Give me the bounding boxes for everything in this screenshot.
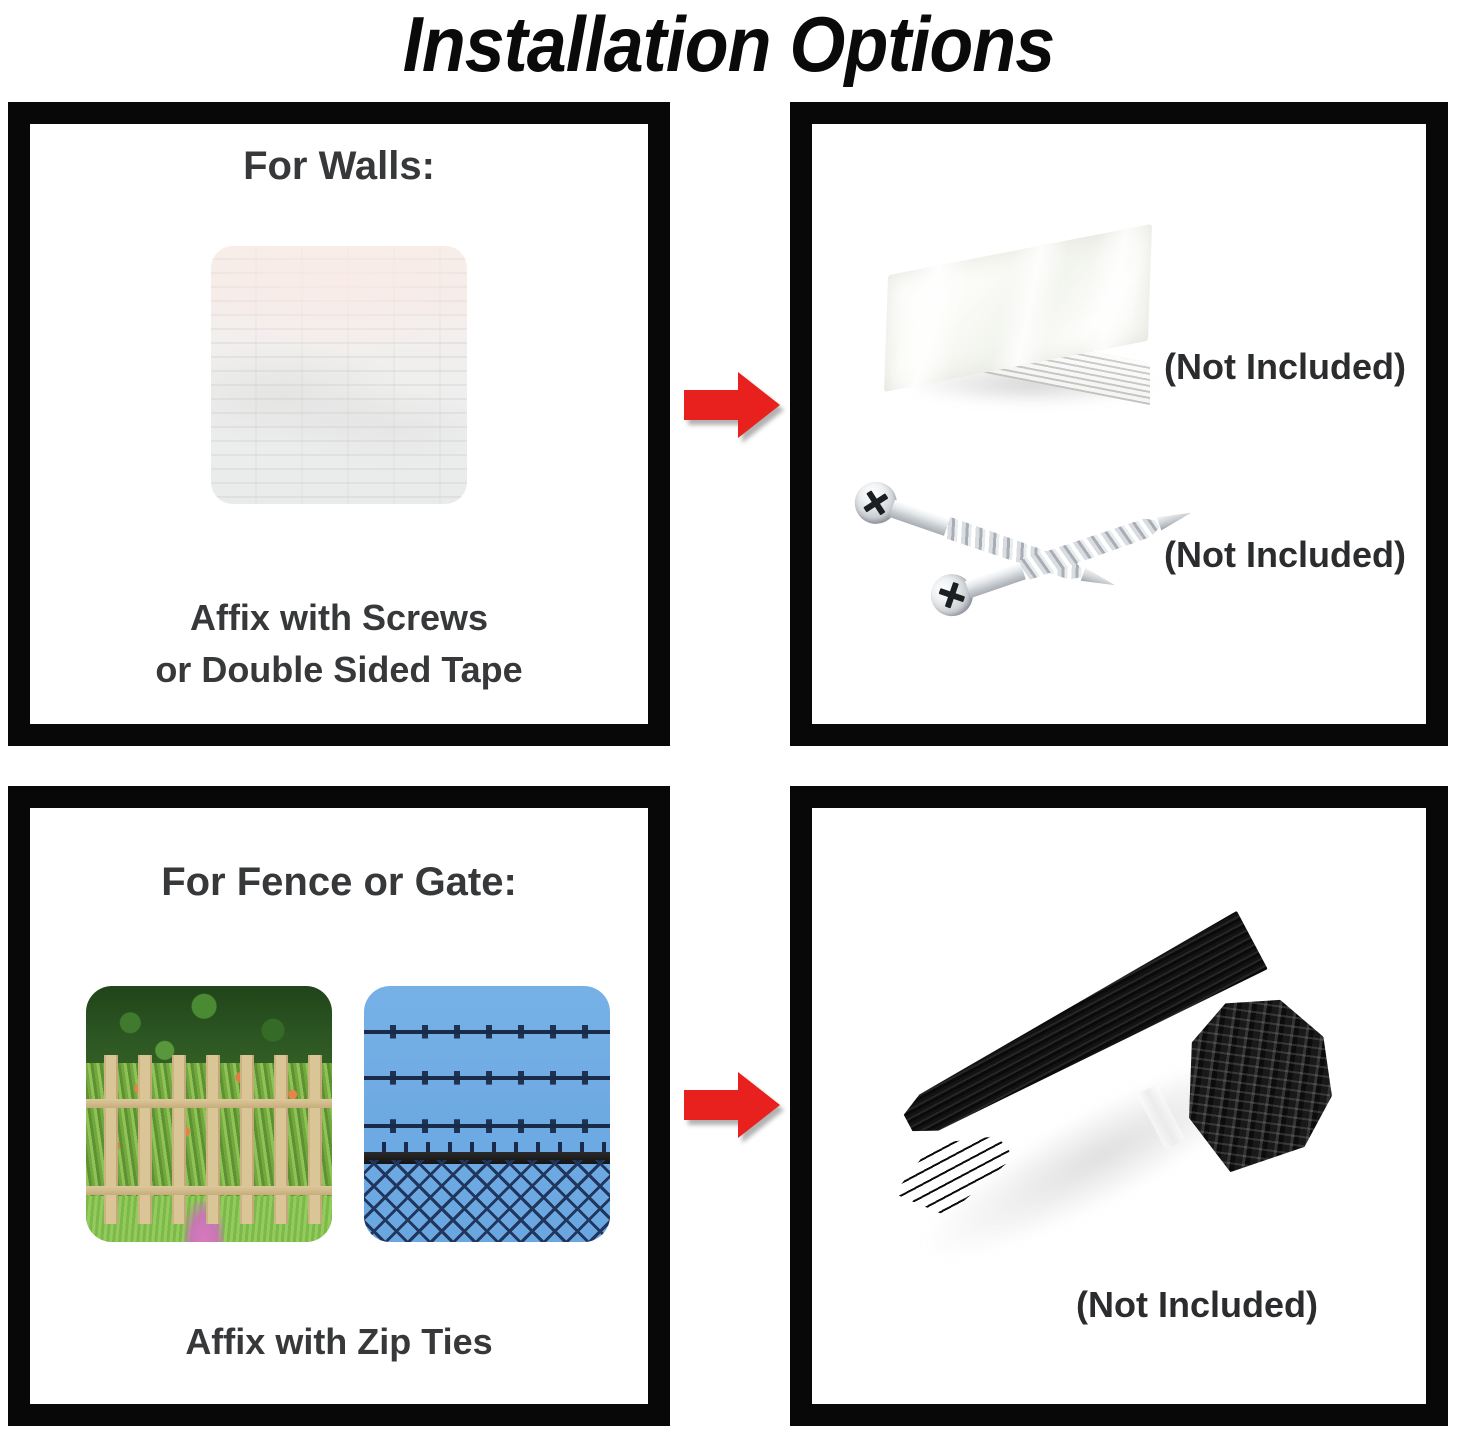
wooden-picket-fence-image <box>86 986 332 1242</box>
screw-shank <box>889 500 953 537</box>
white-brick-wall-image <box>211 246 467 504</box>
arrow-right-icon <box>684 1070 780 1140</box>
black-zip-ties-bundle-image <box>872 940 1342 1320</box>
screw-tip <box>1081 568 1118 592</box>
barbed-wire-strand-2 <box>364 1076 610 1080</box>
barbed-wire-chain-link-fence-image <box>364 986 610 1242</box>
fence-pickets <box>86 1055 332 1224</box>
panel-for-walls: For Walls: Affix with Screws or Double S… <box>8 102 670 746</box>
caption-for-walls: Affix with Screws or Double Sided Tape <box>30 592 648 696</box>
chain-link-mesh <box>364 1160 610 1242</box>
panel-fence-hardware: (Not Included) <box>790 786 1448 1426</box>
barbed-wire-strand-1 <box>364 1030 610 1034</box>
panel-for-fence-or-gate: For Fence or Gate: Affix with Zip Ties <box>8 786 670 1426</box>
caption-for-fence-or-gate: Affix with Zip Ties <box>30 1316 648 1368</box>
zip-ties-not-included-label: (Not Included) <box>1076 1284 1318 1326</box>
caption-line-2: or Double Sided Tape <box>30 644 648 696</box>
screw-shank <box>965 561 1029 598</box>
arrow-right-icon <box>684 370 780 440</box>
barbed-wire-strand-3 <box>364 1124 610 1128</box>
fence-rail-bottom <box>86 1186 332 1195</box>
double-sided-tape-stack-image <box>878 242 1178 432</box>
caption-line-1: Affix with Screws <box>30 592 648 644</box>
tape-not-included-label: (Not Included) <box>1164 346 1406 388</box>
screws-not-included-label: (Not Included) <box>1164 534 1406 576</box>
rail-barbs <box>364 1142 610 1152</box>
page-title: Installation Options <box>58 0 1398 92</box>
heading-for-fence-or-gate: For Fence or Gate: <box>30 860 648 905</box>
brick-texture-overlay <box>211 246 467 504</box>
panel-wall-hardware: (Not Included) (Not Included) <box>790 102 1448 746</box>
heading-for-walls: For Walls: <box>30 144 648 189</box>
screw-threads <box>1019 512 1168 582</box>
screw-tip <box>1157 506 1194 530</box>
fence-rail-top <box>86 1099 332 1108</box>
